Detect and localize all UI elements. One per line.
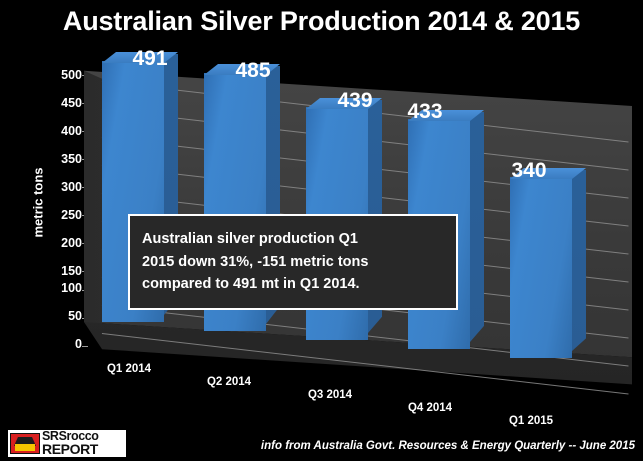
y-tick-label-200: 200 bbox=[38, 236, 82, 250]
logo-wordmark: SRSrocco REPORT bbox=[42, 431, 124, 455]
srsrocco-mark-icon bbox=[10, 433, 40, 454]
data-label-q3-2014: 439 bbox=[337, 89, 372, 113]
y-tick-label-350: 350 bbox=[38, 152, 82, 166]
y-tick-label-500: 500 bbox=[38, 68, 82, 82]
data-label-q1-2015: 340 bbox=[511, 159, 546, 183]
y-tick-label-250: 250 bbox=[38, 208, 82, 222]
data-label-q2-2014: 485 bbox=[235, 59, 270, 83]
page-title: Australian Silver Production 2014 & 2015 bbox=[0, 6, 643, 37]
srsrocco-report-logo: SRSrocco REPORT bbox=[8, 430, 126, 457]
bar-front-face bbox=[510, 177, 572, 358]
x-tick-label-q4-2014: Q4 2014 bbox=[408, 402, 452, 414]
y-tick-label-400: 400 bbox=[38, 124, 82, 138]
bar-q1-2015[interactable] bbox=[510, 177, 572, 358]
annotation-line-1: Australian silver production Q1 bbox=[142, 231, 358, 247]
y-tick-label-0: 0 bbox=[38, 337, 82, 351]
x-tick-label-q2-2014: Q2 2014 bbox=[207, 376, 251, 388]
y-tick-label-100: 100 bbox=[38, 281, 82, 295]
annotation-callout: Australian silver production Q1 2015 dow… bbox=[128, 214, 458, 310]
y-tick-label-150: 150 bbox=[38, 264, 82, 278]
data-label-q1-2014: 491 bbox=[132, 47, 167, 71]
y-tick-label-450: 450 bbox=[38, 96, 82, 110]
logo-line-2: REPORT bbox=[42, 443, 124, 456]
x-tick-label-q1-2014: Q1 2014 bbox=[107, 363, 151, 375]
x-tick-label-q3-2014: Q3 2014 bbox=[308, 389, 352, 401]
bar-side-face bbox=[470, 112, 484, 342]
y-tick-label-300: 300 bbox=[38, 180, 82, 194]
y-axis-ticks: 500 450 400 350 300 250 200 150 100 50 0 bbox=[34, 0, 82, 461]
annotation-line-3: compared to 491 mt in Q1 2014. bbox=[142, 276, 360, 292]
source-note: info from Australia Govt. Resources & En… bbox=[261, 440, 635, 452]
annotation-line-2: 2015 down 31%, -151 metric tons bbox=[142, 254, 368, 270]
x-tick-label-q1-2015: Q1 2015 bbox=[509, 415, 553, 427]
bar-side-face bbox=[572, 170, 586, 351]
annotation-text: Australian silver production Q1 2015 dow… bbox=[130, 228, 380, 297]
data-label-q4-2014: 433 bbox=[407, 100, 442, 124]
chart-canvas: Australian Silver Production 2014 & 2015… bbox=[0, 0, 643, 461]
y-tick-label-50: 50 bbox=[38, 309, 82, 323]
